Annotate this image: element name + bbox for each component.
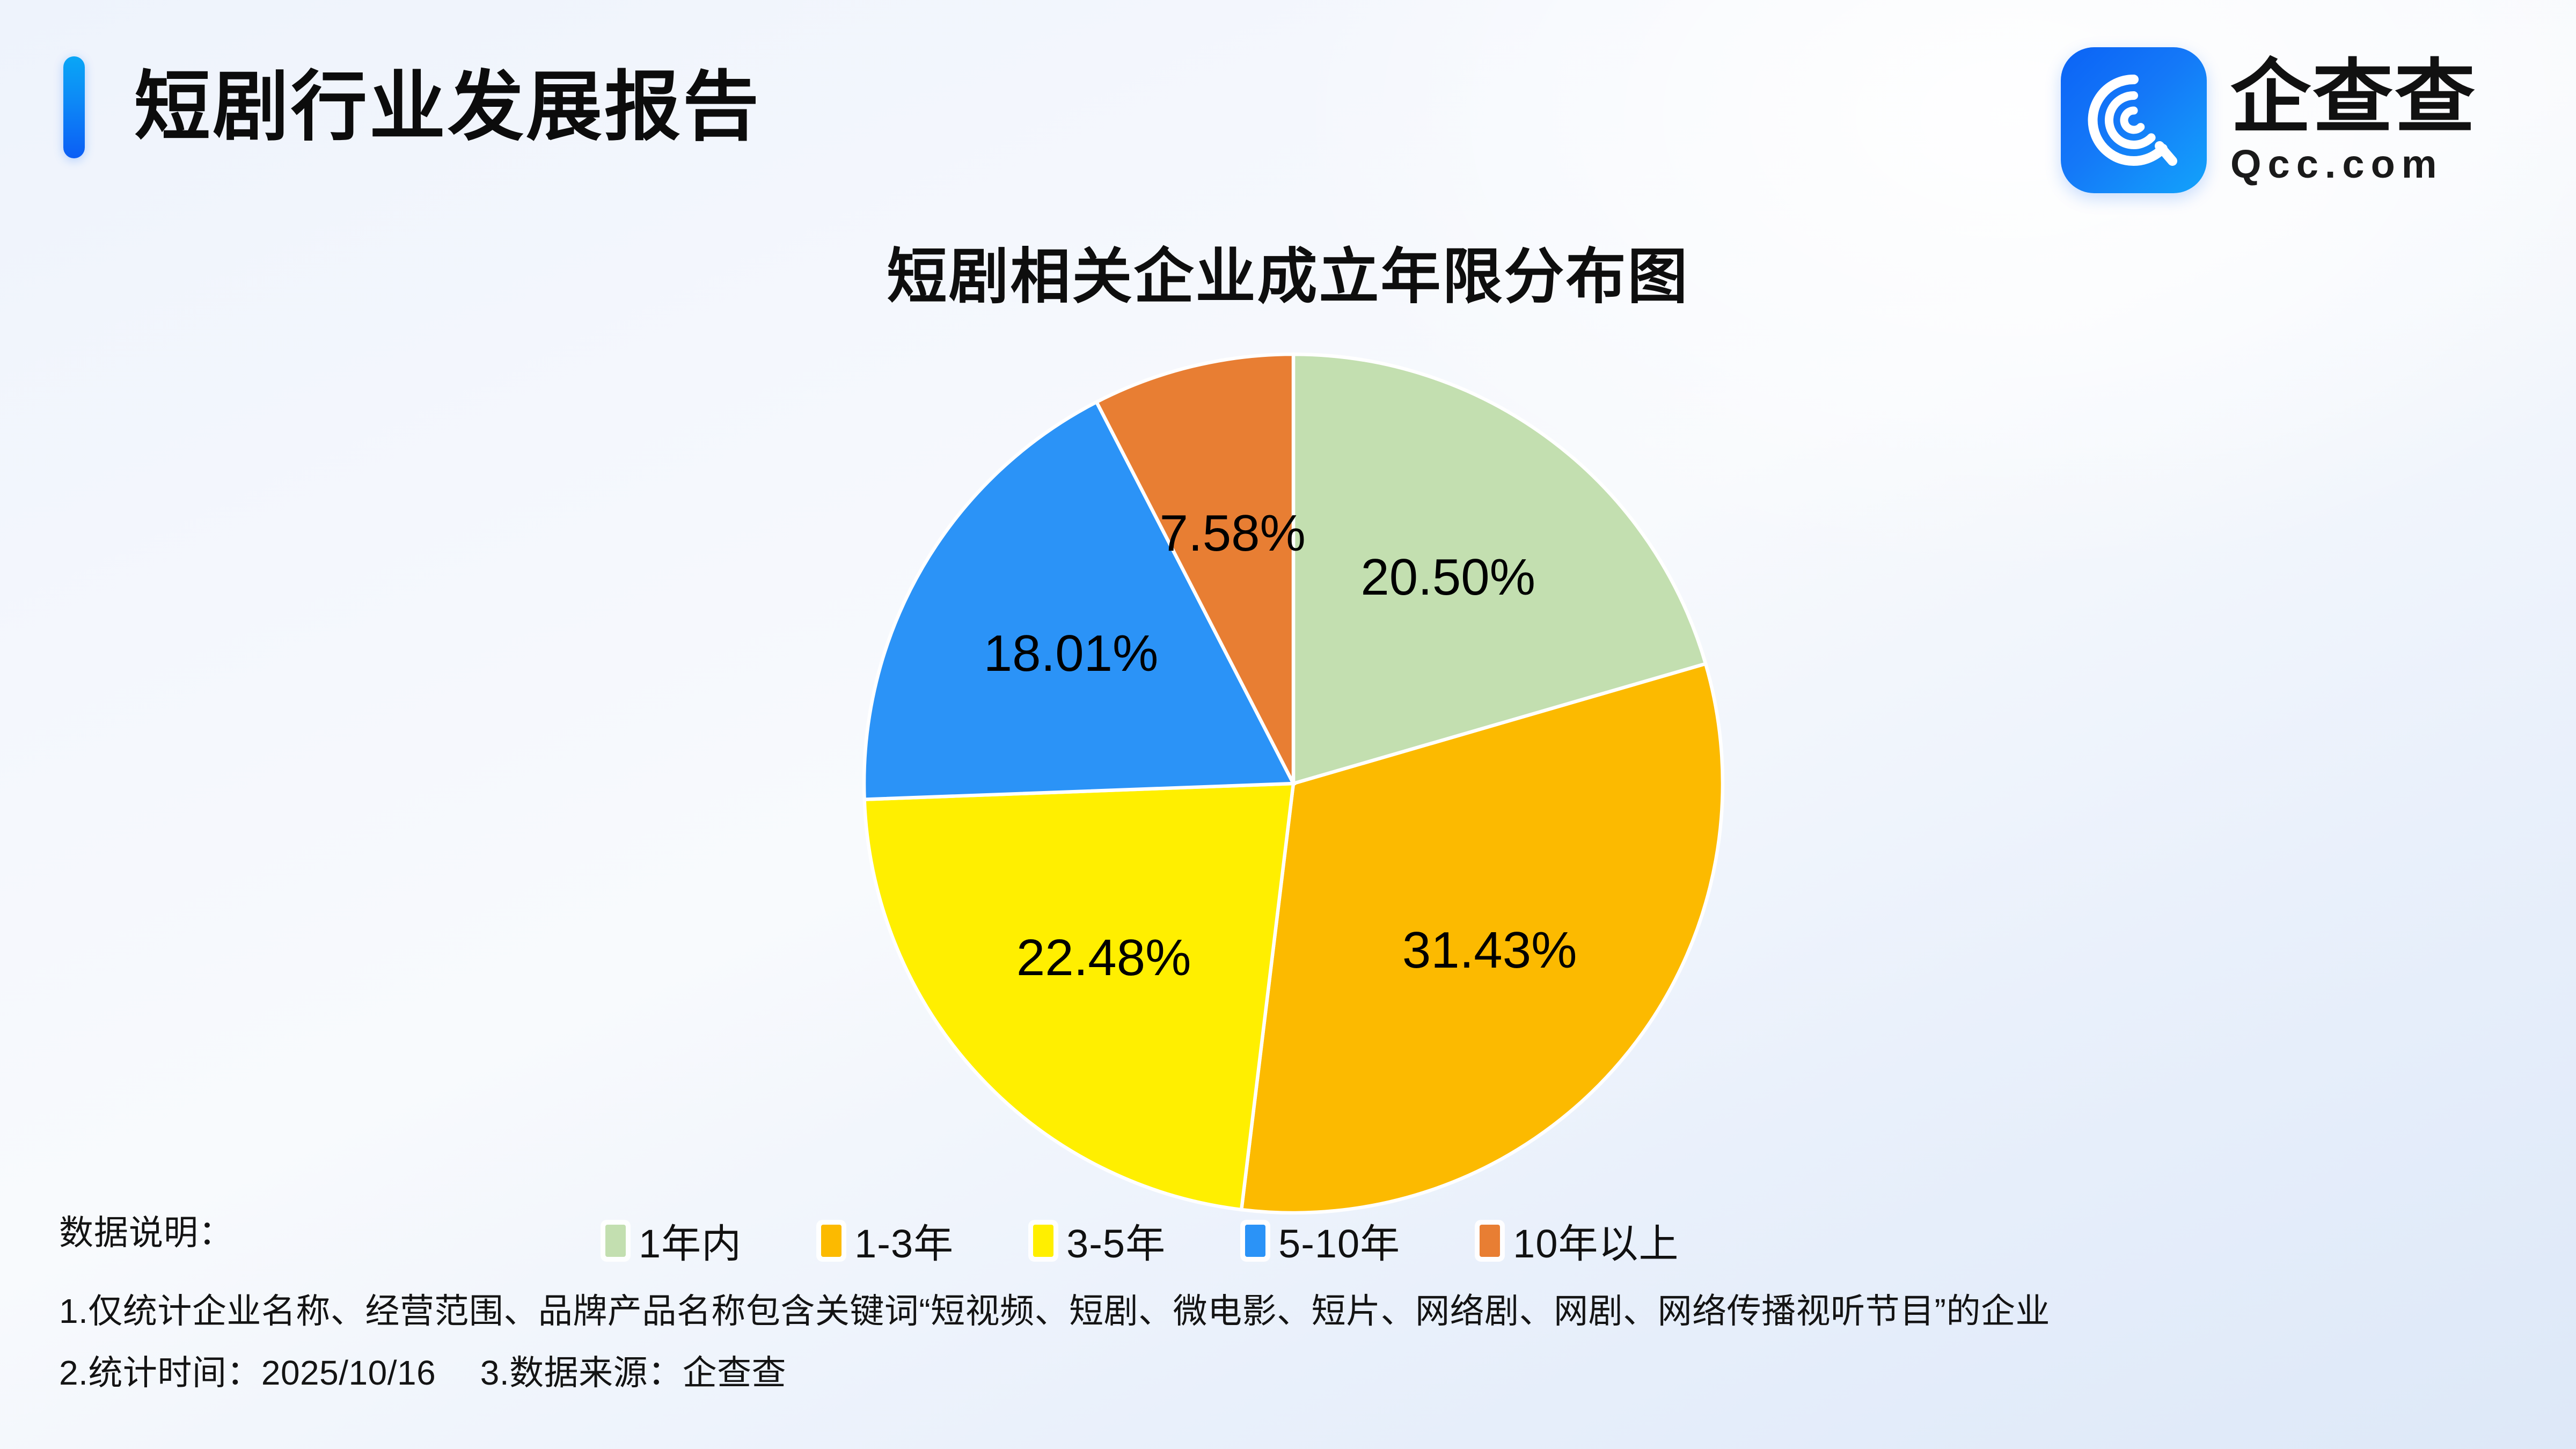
title-accent-bar-icon bbox=[63, 56, 85, 158]
pie-chart: 20.50%31.43%22.48%18.01%7.58% bbox=[860, 350, 1727, 1217]
brand-name-cn: 企查查 bbox=[2230, 55, 2477, 140]
brand-domain: Qcc.com bbox=[2230, 142, 2477, 186]
note-statistic-time: 2.统计时间：2025/10/16 bbox=[59, 1353, 436, 1392]
pie-slice-value-label: 22.48% bbox=[1016, 928, 1191, 987]
brand-wordmark: 企查查 Qcc.com bbox=[2230, 55, 2477, 186]
page-title: 短剧行业发展报告 bbox=[134, 69, 761, 145]
note-line-1: 1.仅统计企业名称、经营范围、品牌产品名称包含关键词“短视频、短剧、微电影、短片… bbox=[59, 1292, 2538, 1330]
note-line-2: 2.统计时间：2025/10/16 3.数据来源：企查查 bbox=[59, 1354, 2538, 1392]
notes-heading: 数据说明： bbox=[59, 1214, 2538, 1252]
chart-title: 短剧相关企业成立年限分布图 bbox=[0, 228, 2576, 315]
pie-slice-value-label: 31.43% bbox=[1402, 921, 1577, 980]
pie-slice bbox=[865, 784, 1293, 1210]
pie-chart-svg bbox=[860, 350, 1727, 1217]
data-notes: 数据说明： 1.仅统计企业名称、经营范围、品牌产品名称包含关键词“短视频、短剧、… bbox=[59, 1214, 2538, 1392]
pie-slice-value-label: 18.01% bbox=[984, 624, 1159, 683]
pie-slice-value-label: 20.50% bbox=[1360, 548, 1535, 607]
page-header: 短剧行业发展报告 企查查 Qcc.com bbox=[0, 0, 2576, 215]
title-block: 短剧行业发展报告 bbox=[63, 56, 761, 158]
brand-logo: 企查查 Qcc.com bbox=[2061, 47, 2477, 193]
pie-slice-value-label: 7.58% bbox=[1160, 504, 1306, 563]
note-data-source: 3.数据来源：企查查 bbox=[480, 1353, 786, 1392]
qcc-spiral-q-icon bbox=[2061, 47, 2207, 193]
